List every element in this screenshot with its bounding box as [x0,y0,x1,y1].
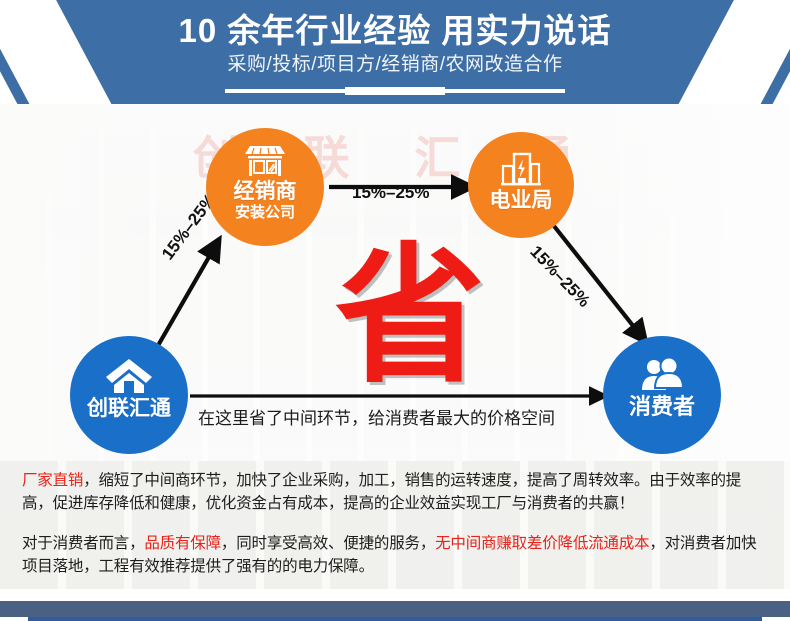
node-dealer[interactable]: 经销商 安装公司 [206,128,324,246]
node-company-label: 创联汇通 [70,398,188,420]
diagram-stage: 创 联 汇 通 15%–25% 15%–25% 15%–25% 省 在这里省了中… [0,104,790,461]
header-banner: 10 余年行业经验 用实力说话 采购/投标/项目方/经销商/农网改造合作 [0,0,790,104]
promo-page: 10 余年行业经验 用实力说话 采购/投标/项目方/经销商/农网改造合作 创 联… [0,0,790,621]
power-building-icon [499,152,543,186]
paragraph-one-rest: ，缩短了中间商环节，加快了企业采购，加工，销售的运转速度，提高了周转效率。由于效… [22,472,741,512]
header-divider-rule [225,89,565,93]
node-dealer-label: 经销商 [206,181,324,203]
header-title: 10 余年行业经验 用实力说话 [0,0,790,50]
paragraph-two: 对于消费者而言，品质有保障，同时享受高效、便捷的服务，无中间商赚取差价降低流通成… [22,515,768,578]
node-consumer-label: 消费者 [603,395,721,418]
node-power-bureau-label: 电业局 [468,190,574,212]
body-copy-block: 厂家直销，缩短了中间商环节，加快了企业采购，加工，销售的运转速度，提高了周转效率… [0,461,790,589]
footer-accent-rule [28,617,762,621]
paragraph-one-highlight: 厂家直销 [22,472,83,489]
node-company[interactable]: 创联汇通 [70,336,188,454]
paragraph-two-highlight-nomiddleman: 无中间商赚取差价降低流通成本 [435,535,649,552]
paragraph-two-middle: ，同时享受高效、便捷的服务， [221,535,435,552]
storefront-icon [242,144,288,178]
header-subtitle: 采购/投标/项目方/经销商/农网改造合作 [0,50,790,77]
node-power-bureau[interactable]: 电业局 [468,132,574,238]
paragraph-one: 厂家直销，缩短了中间商环节，加快了企业采购，加工，销售的运转速度，提高了周转效率… [22,467,768,515]
house-icon [105,358,153,394]
arrow-label-dealer-to-bureau: 15%–25% [352,183,430,203]
paragraph-two-lead: 对于消费者而言， [22,535,144,552]
bottom-arrow-caption: 在这里省了中间环节，给消费者最大的价格空间 [198,404,555,429]
node-dealer-sublabel: 安装公司 [206,205,324,222]
node-consumer[interactable]: 消费者 [603,336,721,454]
paragraph-two-highlight-quality: 品质有保障 [144,535,221,552]
footer-bar [0,601,790,617]
people-icon [638,358,686,392]
